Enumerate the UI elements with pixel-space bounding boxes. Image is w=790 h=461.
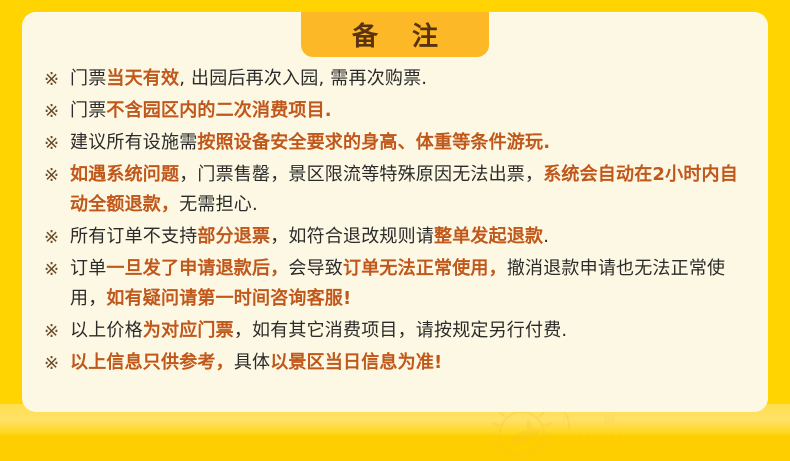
note-text-highlight: 如有疑问请第一时间咨询客服!: [106, 288, 351, 309]
note-bullet-icon: ※: [44, 222, 70, 252]
note-item: ※以上价格为对应门票，如有其它消费项目，请按规定另行付费.: [44, 316, 754, 346]
note-text-plain: 无需担心.: [179, 194, 258, 215]
note-item: ※门票当天有效, 出园后再次入园, 需再次购票.: [44, 64, 754, 94]
notes-list: ※门票当天有效, 出园后再次入园, 需再次购票.※门票不含园区内的二次消费项目.…: [44, 64, 754, 380]
note-text-plain: 门票: [70, 68, 106, 89]
note-text-plain: 门票: [70, 100, 106, 121]
note-text: 门票不含园区内的二次消费项目.: [70, 96, 754, 126]
screenshot-root: 广 网 GUANGWANG 备注 ※门票当天有效, 出园后再次入园, 需再次购票…: [0, 0, 790, 461]
note-text-highlight: 为对应门票: [143, 320, 234, 341]
note-item: ※订单一旦发了申请退款后，会导致订单无法正常使用，撤消退款申请也无法正常使用，如…: [44, 254, 754, 314]
note-text-plain: .: [543, 226, 549, 247]
note-text-highlight: 按照设备安全要求的身高、体重等条件游玩.: [197, 132, 550, 153]
note-text: 门票当天有效, 出园后再次入园, 需再次购票.: [70, 64, 754, 94]
note-text-highlight: 部分退票: [197, 226, 270, 247]
note-bullet-icon: ※: [44, 64, 70, 94]
note-bullet-icon: ※: [44, 348, 70, 378]
note-bullet-icon: ※: [44, 128, 70, 158]
note-text-highlight: 如遇系统问题: [70, 164, 179, 185]
page-title-badge: 备注: [301, 12, 489, 57]
note-text-highlight: 整单发起退款: [434, 226, 543, 247]
notice-card: 备注 ※门票当天有效, 出园后再次入园, 需再次购票.※门票不含园区内的二次消费…: [22, 12, 768, 412]
note-item: ※建议所有设施需按照设备安全要求的身高、体重等条件游玩.: [44, 128, 754, 158]
note-text-plain: 会导致: [288, 258, 343, 279]
note-text-plain: 订单: [70, 258, 106, 279]
note-text-plain: 建议所有设施需: [70, 132, 197, 153]
note-text-plain: 具体: [234, 352, 270, 373]
note-item: ※门票不含园区内的二次消费项目.: [44, 96, 754, 126]
note-text-highlight: 一旦发了申请退款后，: [106, 258, 288, 279]
note-text-highlight: 以景区当日信息为准!: [270, 352, 442, 373]
note-text: 以上价格为对应门票，如有其它消费项目，请按规定另行付费.: [70, 316, 754, 346]
note-item: ※所有订单不支持部分退票，如符合退改规则请整单发起退款.: [44, 222, 754, 252]
note-text-plain: , 出园后再次入园, 需再次购票.: [179, 68, 427, 89]
note-text-plain: ，如符合退改规则请: [270, 226, 434, 247]
note-text-highlight: 以上信息只供参考，: [70, 352, 234, 373]
page-title: 备注: [318, 16, 472, 53]
note-text-plain: ，门票售罄，景区限流等特殊原因无法出票，: [179, 164, 543, 185]
note-item: ※如遇系统问题，门票售罄，景区限流等特殊原因无法出票，系统会自动在2小时内自动全…: [44, 160, 754, 220]
note-text-highlight: 订单无法正常使用，: [343, 258, 507, 279]
note-bullet-icon: ※: [44, 96, 70, 126]
note-text: 如遇系统问题，门票售罄，景区限流等特殊原因无法出票，系统会自动在2小时内自动全额…: [70, 160, 754, 220]
note-text: 所有订单不支持部分退票，如符合退改规则请整单发起退款.: [70, 222, 754, 252]
note-bullet-icon: ※: [44, 160, 70, 190]
note-text-plain: 所有订单不支持: [70, 226, 197, 247]
note-text-plain: 以上价格: [70, 320, 143, 341]
note-text-plain: ，如有其它消费项目，请按规定另行付费.: [234, 320, 568, 341]
note-text: 建议所有设施需按照设备安全要求的身高、体重等条件游玩.: [70, 128, 754, 158]
note-bullet-icon: ※: [44, 316, 70, 346]
note-bullet-icon: ※: [44, 254, 70, 284]
note-text-highlight: 当天有效: [106, 68, 179, 89]
note-text: 订单一旦发了申请退款后，会导致订单无法正常使用，撤消退款申请也无法正常使用，如有…: [70, 254, 754, 314]
note-text-highlight: 不含园区内的二次消费项目.: [106, 100, 331, 121]
note-item: ※以上信息只供参考，具体以景区当日信息为准!: [44, 348, 754, 378]
note-text: 以上信息只供参考，具体以景区当日信息为准!: [70, 348, 754, 378]
